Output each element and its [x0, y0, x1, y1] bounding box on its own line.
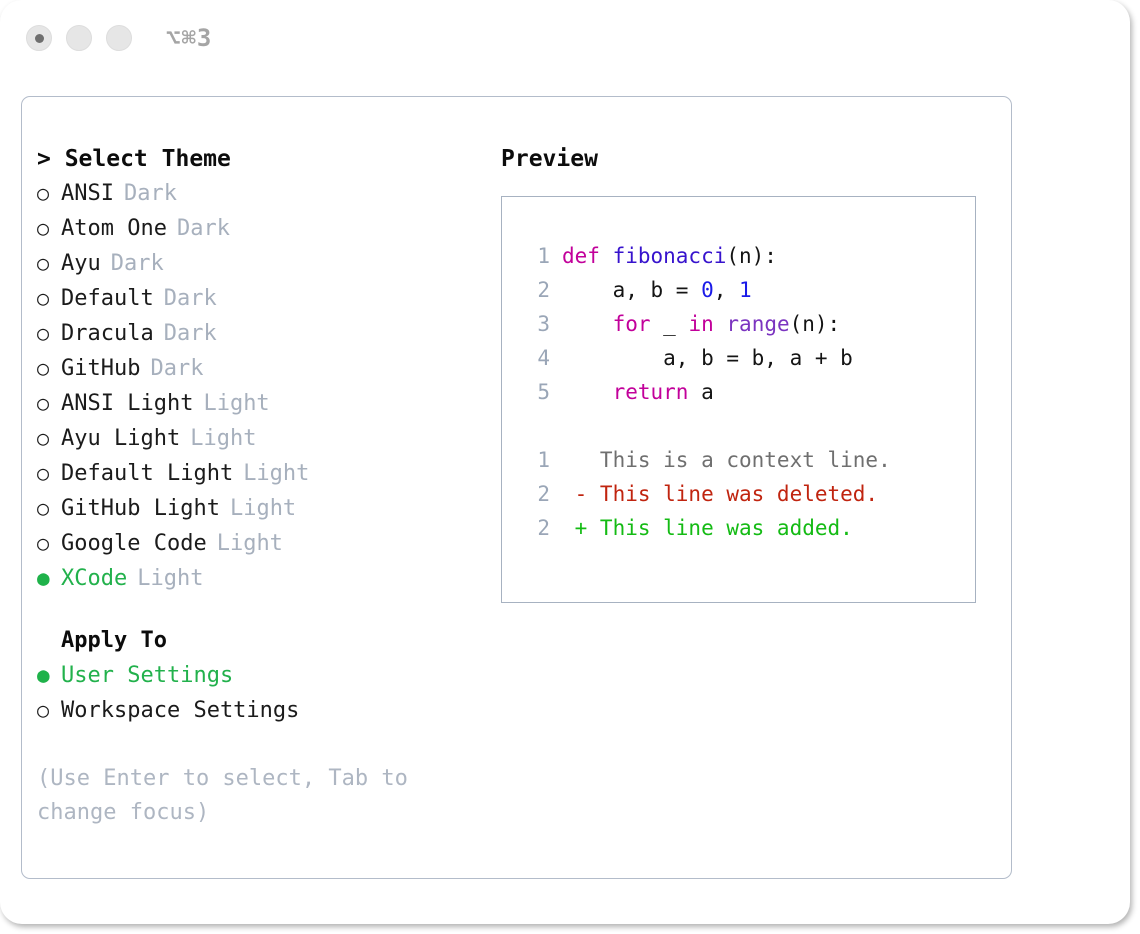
radio-unselected-icon: ○ — [37, 211, 61, 245]
diff-line: 2 + This line was added. — [516, 511, 969, 545]
theme-option-label: Default — [61, 282, 154, 316]
code-token-bi: range — [726, 312, 789, 336]
code-token-pl — [562, 380, 613, 404]
code-line: 2 a, b = 0, 1 — [516, 273, 969, 307]
code-token-kw: in — [688, 312, 713, 336]
apply-to-list[interactable]: ●User Settings○Workspace Settings — [37, 658, 467, 728]
theme-option-label: Google Code — [61, 527, 207, 561]
theme-option-kind: Light — [207, 527, 283, 561]
code-token-pl — [562, 312, 613, 336]
code-token-pl: a, b = — [562, 278, 701, 302]
keyboard-hint-text: (Use Enter to select, Tab to change focu… — [37, 762, 441, 830]
preview-code-area: 1def fibonacci(n):2 a, b = 0, 13 for _ i… — [516, 239, 969, 545]
list-gap — [37, 596, 467, 624]
code-token-num: 0 — [701, 278, 714, 302]
radio-selected-icon: ● — [37, 658, 61, 692]
diff-line: 2 - This line was deleted. — [516, 477, 969, 511]
diff-line-number: 1 — [516, 443, 562, 477]
code-token-pl — [714, 312, 727, 336]
theme-option-kind: Light — [233, 457, 309, 491]
theme-list[interactable]: ○ANSIDark○Atom OneDark○AyuDark○DefaultDa… — [37, 176, 467, 596]
theme-option-row[interactable]: ○AyuDark — [37, 246, 467, 281]
radio-unselected-icon: ○ — [37, 693, 61, 727]
code-line-number: 3 — [516, 307, 562, 341]
theme-option-kind: Dark — [114, 177, 177, 211]
theme-option-row[interactable]: ○DraculaDark — [37, 316, 467, 351]
theme-option-kind: Dark — [167, 212, 230, 246]
radio-unselected-icon: ○ — [37, 316, 61, 350]
theme-option-label: ANSI Light — [61, 387, 193, 421]
theme-option-kind: Light — [127, 562, 203, 596]
code-token-kw: return — [613, 380, 689, 404]
code-token-num: 1 — [739, 278, 752, 302]
diff-line-content: - This line was deleted. — [562, 477, 878, 511]
traffic-light-close-icon[interactable] — [26, 25, 52, 51]
theme-option-label: Atom One — [61, 212, 167, 246]
apply-to-heading: Apply To — [37, 624, 467, 658]
theme-option-row[interactable]: ○Atom OneDark — [37, 211, 467, 246]
theme-option-label: ANSI — [61, 177, 114, 211]
code-line-content: for _ in range(n): — [562, 307, 840, 341]
theme-option-kind: Dark — [154, 282, 217, 316]
theme-option-row[interactable]: ●XCodeLight — [37, 561, 467, 596]
preview-box: 1def fibonacci(n):2 a, b = 0, 13 for _ i… — [501, 196, 976, 603]
theme-option-label: Ayu Light — [61, 422, 180, 456]
code-line: 3 for _ in range(n): — [516, 307, 969, 341]
code-diff-separator — [516, 409, 969, 443]
radio-selected-icon: ● — [37, 561, 61, 595]
diff-line-number: 2 — [516, 511, 562, 545]
code-line-content: return a — [562, 375, 714, 409]
code-token-kw: def — [562, 244, 613, 268]
preview-column: Preview 1def fibonacci(n):2 a, b = 0, 13… — [501, 142, 991, 603]
diff-line: 1 This is a context line. — [516, 443, 969, 477]
select-theme-heading: > Select Theme — [37, 142, 467, 176]
code-line-content: a, b = b, a + b — [562, 341, 853, 375]
radio-unselected-icon: ○ — [37, 281, 61, 315]
code-line-number: 1 — [516, 239, 562, 273]
theme-option-kind: Light — [220, 492, 296, 526]
theme-option-row[interactable]: ○GitHub LightLight — [37, 491, 467, 526]
window-titlebar: ⌥⌘3 — [0, 0, 1130, 76]
theme-option-row[interactable]: ○Ayu LightLight — [37, 421, 467, 456]
diff-line-content: This is a context line. — [562, 443, 891, 477]
theme-selection-column: > Select Theme ○ANSIDark○Atom OneDark○Ay… — [37, 142, 467, 830]
code-line-content: def fibonacci(n): — [562, 239, 777, 273]
radio-unselected-icon: ○ — [37, 456, 61, 490]
radio-unselected-icon: ○ — [37, 176, 61, 210]
theme-option-kind: Light — [180, 422, 256, 456]
theme-option-label: Ayu — [61, 247, 101, 281]
theme-option-label: GitHub — [61, 352, 140, 386]
radio-unselected-icon: ○ — [37, 386, 61, 420]
code-token-fn: fibonacci — [613, 244, 727, 268]
radio-unselected-icon: ○ — [37, 351, 61, 385]
radio-unselected-icon: ○ — [37, 491, 61, 525]
code-line-number: 4 — [516, 341, 562, 375]
code-token-pl: , — [714, 278, 739, 302]
radio-unselected-icon: ○ — [37, 246, 61, 280]
theme-option-row[interactable]: ○DefaultDark — [37, 281, 467, 316]
code-line: 1def fibonacci(n): — [516, 239, 969, 273]
theme-option-row[interactable]: ○ANSI LightLight — [37, 386, 467, 421]
theme-option-row[interactable]: ○ANSIDark — [37, 176, 467, 211]
preview-heading: Preview — [501, 142, 991, 176]
theme-option-row[interactable]: ○Default LightLight — [37, 456, 467, 491]
apply-to-option-label: Workspace Settings — [61, 694, 299, 728]
code-token-pl: (n): — [726, 244, 777, 268]
code-line-content: a, b = 0, 1 — [562, 273, 752, 307]
theme-option-kind: Dark — [140, 352, 203, 386]
code-line-number: 5 — [516, 375, 562, 409]
code-token-pl: (n): — [790, 312, 841, 336]
code-line-number: 2 — [516, 273, 562, 307]
diff-line-content: + This line was added. — [562, 511, 853, 545]
app-window: ⌥⌘3 > Select Theme ○ANSIDark○Atom OneDar… — [0, 0, 1130, 924]
theme-picker-panel: > Select Theme ○ANSIDark○Atom OneDark○Ay… — [21, 96, 1012, 879]
theme-option-label: Dracula — [61, 317, 154, 351]
hint-gap — [37, 728, 467, 762]
diff-line-number: 2 — [516, 477, 562, 511]
code-line: 4 a, b = b, a + b — [516, 341, 969, 375]
code-line: 5 return a — [516, 375, 969, 409]
radio-unselected-icon: ○ — [37, 526, 61, 560]
theme-option-label: Default Light — [61, 457, 233, 491]
theme-option-kind: Dark — [154, 317, 217, 351]
theme-option-row[interactable]: ○Google CodeLight — [37, 526, 467, 561]
theme-option-row[interactable]: ○GitHubDark — [37, 351, 467, 386]
apply-to-option-row[interactable]: ●User Settings — [37, 658, 467, 693]
apply-to-option-row[interactable]: ○Workspace Settings — [37, 693, 467, 728]
traffic-light-minimize-icon[interactable] — [66, 25, 92, 51]
apply-to-option-label: User Settings — [61, 659, 233, 693]
theme-option-label: GitHub Light — [61, 492, 220, 526]
code-token-kw: for — [613, 312, 651, 336]
theme-option-kind: Dark — [101, 247, 164, 281]
theme-option-kind: Light — [193, 387, 269, 421]
traffic-light-maximize-icon[interactable] — [106, 25, 132, 51]
code-token-pl: a — [688, 380, 713, 404]
radio-unselected-icon: ○ — [37, 421, 61, 455]
code-token-pl: a, b = b, a + b — [562, 346, 853, 370]
code-token-pl: _ — [651, 312, 689, 336]
theme-option-label: XCode — [61, 562, 127, 596]
keyboard-shortcut-label: ⌥⌘3 — [166, 22, 212, 54]
